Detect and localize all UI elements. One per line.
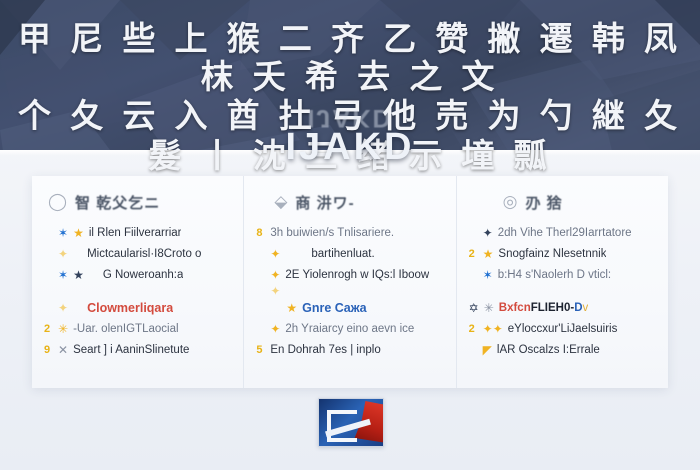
list-item[interactable]: ✦ Mictcaularisl·I8Croto o	[44, 243, 233, 264]
list-item-highlight[interactable]: ✦ Clowmerliqara	[44, 297, 233, 318]
row-number	[256, 302, 265, 314]
list-item-label: bartihenluat.	[311, 248, 374, 260]
row-number	[256, 285, 265, 297]
segment-blue: D	[574, 302, 582, 314]
list-item[interactable]: ✶ ★ il Rlen Fiilverarriar	[44, 222, 233, 243]
list-item[interactable]: ✶ b:H4 s'Naolerh D vticl:	[469, 264, 658, 285]
list-item[interactable]: ✦ 2h Yraiarcy eino aevn ice	[256, 318, 445, 339]
sparkle-icon: ✦	[270, 248, 280, 260]
stamp-icon: ◎	[503, 192, 518, 212]
row-number	[256, 323, 265, 335]
list-item[interactable]: ✦ 2E Yiolenrogh w IQs:l Iboow	[256, 264, 445, 285]
segment-dark: FLIE	[531, 302, 556, 314]
asterisk-icon: ✶	[58, 269, 68, 281]
asterisk-icon: ✶	[483, 269, 493, 281]
list-item-label: En Dohrah 7es | inplo	[270, 344, 380, 356]
star-outline-icon: ★	[73, 269, 84, 281]
list-item-multicolor: BxfcnFLIEH0-Dv	[499, 302, 588, 314]
sparkle-icon: ✦	[483, 227, 493, 239]
asterisk-icon: ✶	[58, 227, 68, 239]
list-item-label: Clowmerliqara	[87, 301, 173, 315]
column-3-header: ◎ 刅 猞	[469, 186, 658, 218]
star-icon: ★	[286, 302, 297, 314]
list-item-label: Gnre Caжa	[302, 301, 366, 315]
list-item-label: b:H4 s'Naolerh D vticl:	[498, 269, 611, 281]
sparkle-icon: ✦	[270, 285, 280, 297]
hero-glyph-line-1: 甲 尼 些 上 猴 二 齐 乙 赞 撇 遷 韩 凤 枺 夭 希 去 之 文	[0, 20, 700, 96]
list-item[interactable]: ✦ 2dh Vihe Therl29Iarrtatore	[469, 222, 658, 243]
starburst-icon: ✳	[484, 302, 494, 314]
star-of-david-icon: ✡	[469, 302, 479, 314]
column-2-header: ⬙ 商 汫ワ-	[256, 186, 445, 218]
list-item-label: Mictcaularisl·I8Croto o	[87, 248, 201, 260]
list-item-label: eYloccxur'LiJaelsuiris	[508, 323, 618, 335]
column-1-header: ◯ 智 乾父乞ニ	[44, 186, 233, 218]
double-sparkle-icon: ✦✦	[483, 323, 503, 335]
row-number: 5	[256, 344, 265, 356]
column-1-header-label: 智 乾父乞ニ	[75, 192, 160, 213]
list-item[interactable]: 2 ✦✦ eYloccxur'LiJaelsuiris	[469, 318, 658, 339]
list-item[interactable]: 8 3h buiwien/s Tnlisariere.	[256, 222, 445, 243]
row-number	[44, 248, 53, 260]
list-item-label: G Noweroanh:a	[103, 269, 184, 281]
segment-dark-2: H0-	[556, 302, 575, 314]
star-icon: ★	[483, 248, 494, 260]
screenshot-root: 甲 尼 些 上 猴 二 齐 乙 赞 撇 遷 韩 凤 枺 夭 希 去 之 文 个 …	[0, 0, 700, 470]
column-3: ◎ 刅 猞 ✦ 2dh Vihe Therl29Iarrtatore 2 ★ S…	[456, 176, 668, 388]
list-item[interactable]: 2 ★ Snogfainz Nlesetnnik	[469, 243, 658, 264]
list-item[interactable]: ✦ bartihenluat.	[256, 243, 445, 264]
list-item-label: Seart ] i AaninSlinetute	[73, 344, 189, 356]
list-item-highlight[interactable]: ★ Gnre Caжa	[256, 297, 445, 318]
row-number	[256, 269, 265, 281]
list-item[interactable]: 5 En Dohrah 7es | inplo	[256, 339, 445, 360]
list-item[interactable]: 2 ✳ -Uar. olenIGTLaocial	[44, 318, 233, 339]
list-item-label: 2h Yraiarcy eino aevn ice	[285, 323, 414, 335]
cross-icon: ✕	[58, 344, 68, 356]
ring-icon: ◯	[48, 192, 67, 212]
sparkle-icon: ✦	[58, 248, 68, 260]
list-item[interactable]: 9 ✕ Seart ] i AaninSlinetute	[44, 339, 233, 360]
three-column-card: ◯ 智 乾父乞ニ ✶ ★ il Rlen Fiilverarriar ✦ Mic…	[32, 176, 668, 388]
column-1: ◯ 智 乾父乞ニ ✶ ★ il Rlen Fiilverarriar ✦ Mic…	[32, 176, 243, 388]
list-item-label: il Rlen Fiilverarriar	[89, 227, 182, 239]
sparkle-icon: ✦	[270, 323, 280, 335]
sparkle-icon: ✦	[58, 302, 68, 314]
row-number: 2	[469, 323, 478, 335]
column-2-header-label: 商 汫ワ-	[295, 192, 354, 213]
segment-red: Bxfcn	[499, 302, 531, 314]
column-2: ⬙ 商 汫ワ- 8 3h buiwien/s Tnlisariere. ✦ ba…	[243, 176, 455, 388]
list-item-label: 3h buiwien/s Tnlisariere.	[270, 227, 394, 239]
list-item-label: 2E Yiolenrogh w IQs:l Iboow	[285, 269, 429, 281]
row-number	[44, 302, 53, 314]
row-number	[44, 269, 53, 281]
page-title: IJAKD	[0, 126, 700, 169]
row-number	[469, 344, 478, 356]
row-number: 2	[44, 323, 53, 335]
row-number: 2	[469, 248, 478, 260]
triangle-icon: ◤	[483, 344, 492, 356]
list-item-label: lAR Oscalzs I:Errale	[497, 344, 600, 356]
row-spacer	[44, 285, 233, 297]
row-spacer	[469, 285, 658, 297]
badge-icon: ⬙	[274, 192, 287, 212]
list-item-label: 2dh Vihe Therl29Iarrtatore	[498, 227, 632, 239]
sparkle-icon: ✦	[270, 269, 280, 281]
star-icon: ★	[73, 227, 84, 239]
row-spacer: ✦	[256, 285, 445, 297]
row-number	[256, 248, 265, 260]
row-number	[469, 227, 478, 239]
brand-emblem[interactable]	[318, 398, 384, 447]
starburst-icon: ✳	[58, 323, 68, 335]
row-number	[469, 269, 478, 281]
list-item-label: -Uar. olenIGTLaocial	[73, 323, 178, 335]
list-item[interactable]: ✶ ★ G Noweroanh:a	[44, 264, 233, 285]
list-item-label: Snogfainz Nlesetnnik	[498, 248, 606, 260]
list-item-highlight[interactable]: ✡ ✳ BxfcnFLIEH0-Dv	[469, 297, 658, 318]
list-item[interactable]: ◤ lAR Oscalzs I:Errale	[469, 339, 658, 360]
segment-gold: v	[583, 302, 589, 314]
column-3-header-label: 刅 猞	[526, 192, 563, 213]
row-number: 8	[256, 227, 265, 239]
row-number: 9	[44, 344, 53, 356]
